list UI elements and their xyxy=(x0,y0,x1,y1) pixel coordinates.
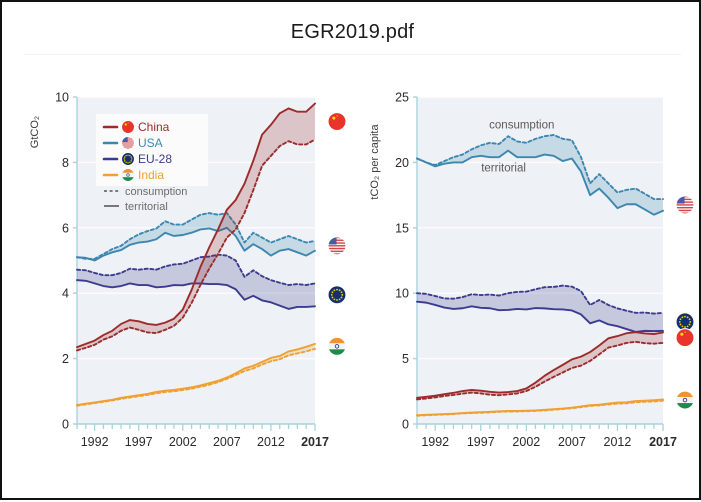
x-axis-tick-label: 2012 xyxy=(604,435,632,449)
x-axis-tick-label: 1992 xyxy=(421,435,449,449)
china-flag-icon xyxy=(676,329,694,347)
legend-style-label-consumption[interactable]: consumption xyxy=(125,186,187,198)
x-axis-tick-label: 2002 xyxy=(512,435,540,449)
y-axis-title: GtCO₂ xyxy=(29,116,41,148)
y-axis-tick-label: 2 xyxy=(62,352,69,366)
legend-label-usa[interactable]: USA xyxy=(138,136,163,150)
usa-flag-icon xyxy=(676,196,694,214)
x-axis-tick-label: 2007 xyxy=(213,435,241,449)
china-flag-icon xyxy=(328,113,346,131)
legend-label-china[interactable]: China xyxy=(138,120,170,134)
india-flag-icon xyxy=(122,169,135,182)
y-axis-tick-label: 20 xyxy=(395,156,409,170)
usa-flag-icon xyxy=(122,137,135,150)
plot-territorial-vs-consumption-per-capita: 0510152025tCO₂ per capita199219972002200… xyxy=(347,2,701,502)
india-flag-icon xyxy=(676,391,694,409)
y-axis-tick-label: 0 xyxy=(62,418,69,432)
india-flag-icon xyxy=(328,337,346,355)
x-axis-tick-label: 1997 xyxy=(467,435,495,449)
y-axis-tick-label: 10 xyxy=(395,287,409,301)
legend-label-eu[interactable]: EU-28 xyxy=(138,152,172,166)
x-axis-tick-label: 2017 xyxy=(301,435,329,449)
y-axis-tick-label: 0 xyxy=(402,418,409,432)
x-axis-tick-label: 1997 xyxy=(125,435,153,449)
y-axis-tick-label: 5 xyxy=(402,352,409,366)
y-axis-tick-label: 10 xyxy=(55,91,69,105)
y-axis-tick-label: 6 xyxy=(62,221,69,235)
x-axis-tick-label: 2012 xyxy=(257,435,285,449)
chart-total-emissions: 0246810GtCO₂199219972002200720122017Chin… xyxy=(2,2,362,502)
eu-flag-icon xyxy=(122,153,135,166)
plot-territorial-vs-consumption-total: 0246810GtCO₂199219972002200720122017Chin… xyxy=(2,2,362,502)
document-frame: EGR2019.pdf 0246810GtCO₂1992199720022007… xyxy=(0,0,701,500)
annotation-consumption: consumption xyxy=(489,119,554,131)
y-axis-tick-label: 25 xyxy=(395,91,409,105)
annotation-territorial: territorial xyxy=(481,163,526,175)
legend-label-india[interactable]: India xyxy=(138,168,164,182)
legend-style-label-territorial[interactable]: territorial xyxy=(125,201,168,213)
x-axis-tick-label: 1992 xyxy=(81,435,109,449)
eu-flag-icon xyxy=(328,286,346,304)
y-axis-tick-label: 4 xyxy=(62,287,69,301)
y-axis-tick-label: 15 xyxy=(395,221,409,235)
x-axis-tick-label: 2007 xyxy=(558,435,586,449)
china-flag-icon xyxy=(122,121,135,134)
x-axis-tick-label: 2002 xyxy=(169,435,197,449)
y-axis-tick-label: 8 xyxy=(62,156,69,170)
y-axis-title: tCO₂ per capita xyxy=(369,124,381,200)
x-axis-tick-label: 2017 xyxy=(649,435,677,449)
chart-per-capita-emissions: 0510152025tCO₂ per capita199219972002200… xyxy=(347,2,701,502)
usa-flag-icon xyxy=(328,237,346,255)
